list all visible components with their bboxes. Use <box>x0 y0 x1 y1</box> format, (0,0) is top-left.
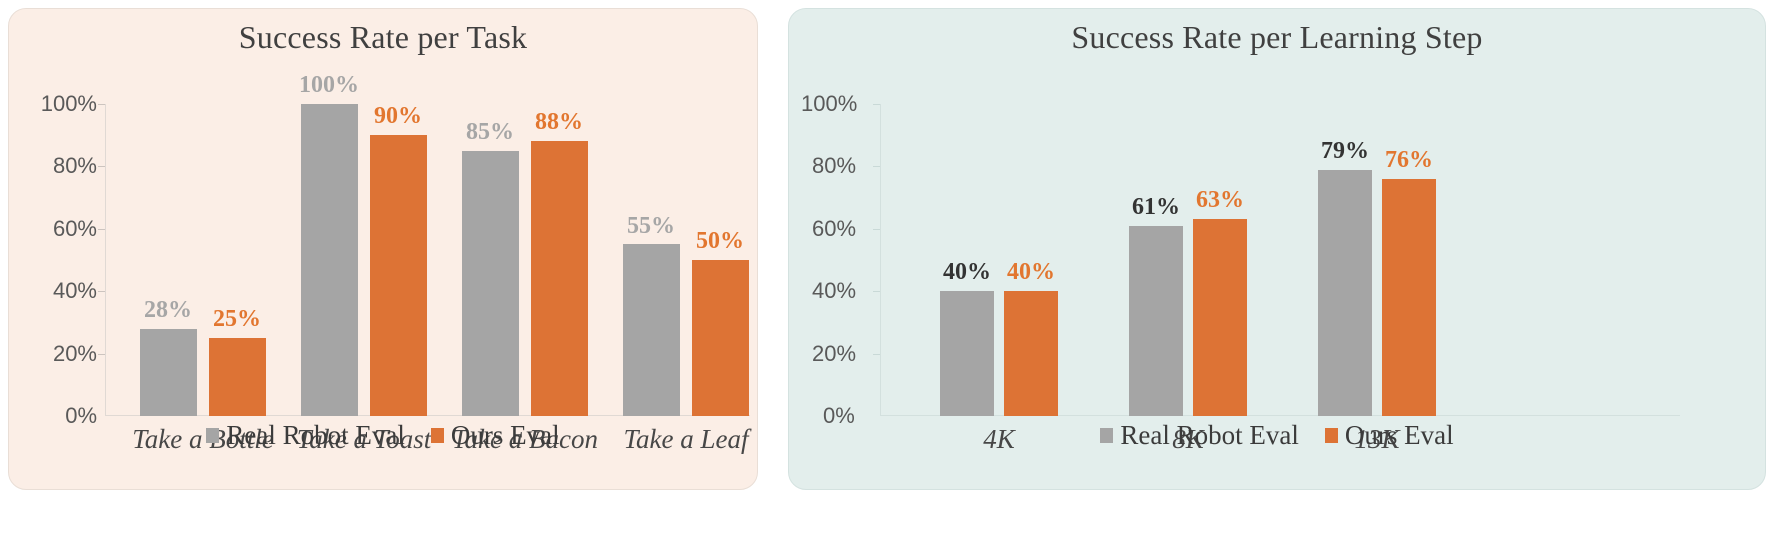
y-tick-label: 80% <box>812 153 856 179</box>
legend-left: Real Robot Eval Ours Eval <box>9 420 757 451</box>
y-axis-tick <box>98 291 105 292</box>
legend-swatch-icon <box>1100 428 1113 443</box>
bar-value-label: 79% <box>1321 138 1369 165</box>
bar-real-robot-eval[interactable] <box>623 244 680 416</box>
bar-value-label: 100% <box>299 72 359 99</box>
bar-ours-eval[interactable] <box>1193 219 1247 416</box>
bar-value-label: 61% <box>1132 194 1180 221</box>
legend-label: Ours Eval <box>451 420 560 451</box>
chart-panel-success-rate-per-learning-step: Success Rate per Learning Step 100% 80% … <box>788 8 1766 490</box>
bar-value-label: 55% <box>627 213 675 240</box>
legend-item-real-robot-eval[interactable]: Real Robot Eval <box>1100 420 1298 451</box>
x-axis-baseline <box>880 415 1680 416</box>
bar-value-label: 90% <box>374 103 422 130</box>
legend-label: Real Robot Eval <box>226 420 404 451</box>
legend-swatch-icon <box>206 428 219 443</box>
bar-value-label: 40% <box>1007 259 1055 286</box>
bar-ours-eval[interactable] <box>370 135 427 416</box>
y-tick-label: 100% <box>41 91 97 117</box>
y-axis-line <box>880 104 881 416</box>
bar-ours-eval[interactable] <box>692 260 749 416</box>
legend-right: Real Robot Eval Ours Eval <box>789 420 1765 451</box>
plot-area-left: 28% 25% 100% 90% 85% 88% 55% 50% <box>105 104 750 416</box>
y-axis-line <box>105 104 106 416</box>
figure-root: Success Rate per Task 100% 80% 60% 40% 2… <box>0 0 1774 550</box>
bar-real-robot-eval[interactable] <box>940 291 994 416</box>
bar-value-label: 88% <box>535 109 583 136</box>
bar-ours-eval[interactable] <box>1004 291 1058 416</box>
bar-real-robot-eval[interactable] <box>140 329 197 416</box>
legend-label: Ours Eval <box>1345 420 1454 451</box>
legend-item-real-robot-eval[interactable]: Real Robot Eval <box>206 420 404 451</box>
y-axis-labels-right: 100% 80% 60% 40% 20% 0% <box>789 104 869 416</box>
y-tick-label: 80% <box>53 153 97 179</box>
y-tick-label: 60% <box>53 216 97 242</box>
legend-swatch-icon <box>431 428 444 443</box>
bar-real-robot-eval[interactable] <box>1318 170 1372 417</box>
y-axis-tick <box>873 229 880 230</box>
bar-value-label: 25% <box>213 306 261 333</box>
plot-area-right: 40% 40% 61% 63% 79% 76% <box>880 104 1470 416</box>
y-axis-tick <box>873 291 880 292</box>
legend-label: Real Robot Eval <box>1120 420 1298 451</box>
y-axis-tick <box>873 354 880 355</box>
legend-item-ours-eval[interactable]: Ours Eval <box>1325 420 1454 451</box>
legend-swatch-icon <box>1325 428 1338 443</box>
bar-real-robot-eval[interactable] <box>462 151 519 416</box>
bar-value-label: 28% <box>144 297 192 324</box>
y-axis-tick <box>873 166 880 167</box>
chart-title: Success Rate per Learning Step <box>789 19 1765 56</box>
chart-title: Success Rate per Task <box>9 19 757 56</box>
y-tick-label: 100% <box>801 91 857 117</box>
bar-real-robot-eval[interactable] <box>301 104 358 416</box>
bar-value-label: 63% <box>1196 187 1244 214</box>
y-tick-label: 40% <box>812 278 856 304</box>
bar-ours-eval[interactable] <box>1382 179 1436 416</box>
y-tick-label: 40% <box>53 278 97 304</box>
y-axis-tick <box>98 229 105 230</box>
y-tick-label: 60% <box>812 216 856 242</box>
bar-value-label: 85% <box>466 119 514 146</box>
y-axis-tick <box>873 104 880 105</box>
bar-real-robot-eval[interactable] <box>1129 226 1183 416</box>
y-axis-tick <box>98 104 105 105</box>
y-axis-tick <box>98 354 105 355</box>
y-tick-label: 20% <box>53 341 97 367</box>
y-tick-label: 20% <box>812 341 856 367</box>
bar-ours-eval[interactable] <box>531 141 588 416</box>
y-axis-labels-left: 100% 80% 60% 40% 20% 0% <box>17 104 97 416</box>
chart-panel-success-rate-per-task: Success Rate per Task 100% 80% 60% 40% 2… <box>8 8 758 490</box>
bar-value-label: 40% <box>943 259 991 286</box>
bar-value-label: 76% <box>1385 147 1433 174</box>
legend-item-ours-eval[interactable]: Ours Eval <box>431 420 560 451</box>
y-axis-tick <box>98 166 105 167</box>
bar-ours-eval[interactable] <box>209 338 266 416</box>
bar-value-label: 50% <box>696 228 744 255</box>
